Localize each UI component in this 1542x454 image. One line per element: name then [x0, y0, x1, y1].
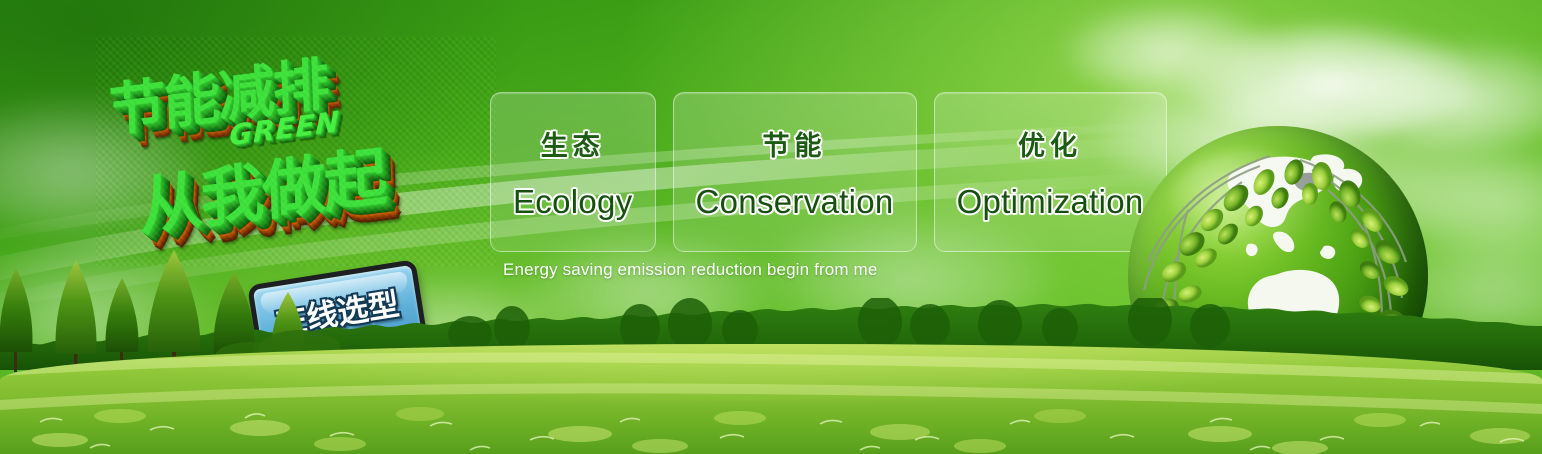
- feature-box-ecology[interactable]: 生态 Ecology: [490, 92, 656, 252]
- feature-box-conservation[interactable]: 节能 Conservation: [673, 92, 917, 252]
- grass-texture: [0, 344, 1542, 454]
- feature-cn-label: 优化: [1018, 124, 1082, 163]
- feature-en-label: Conservation: [696, 183, 894, 221]
- eco-banner: 节能减排 GREEN 从我做起 在线选型 生态 Ecology 节能 Conse…: [0, 0, 1542, 454]
- cta-label: 在线选型: [272, 278, 402, 342]
- tagline-text: Energy saving emission reduction begin f…: [503, 260, 877, 280]
- feature-box-list: 生态 Ecology 节能 Conservation 优化 Optimizati…: [490, 92, 1167, 252]
- feature-en-label: Optimization: [957, 183, 1144, 221]
- grass-field-icon: [0, 344, 1542, 454]
- feature-cn-label: 节能: [763, 124, 827, 163]
- feature-en-label: Ecology: [513, 183, 633, 221]
- feature-cn-label: 生态: [541, 124, 605, 163]
